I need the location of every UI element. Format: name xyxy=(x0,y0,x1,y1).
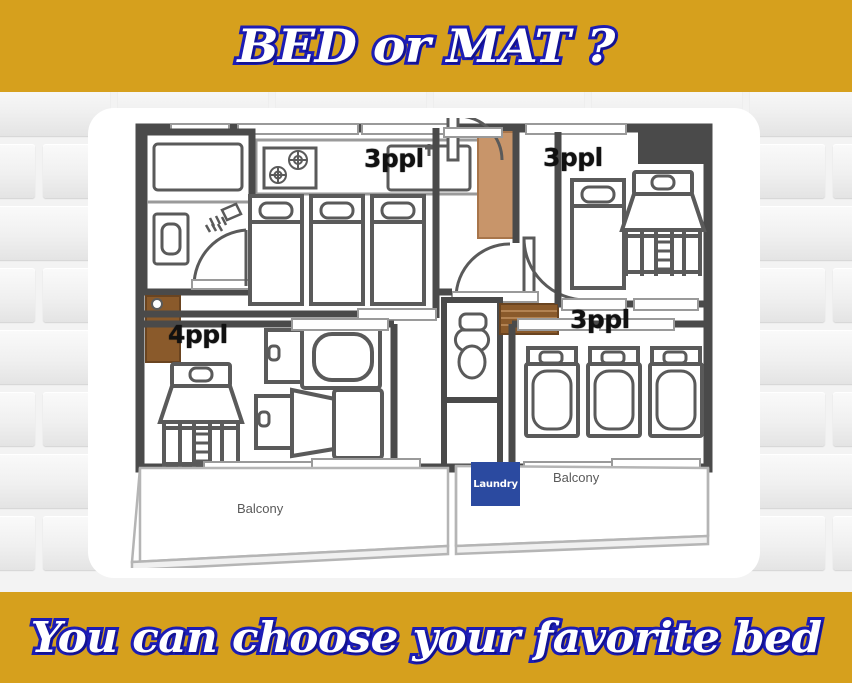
bottom-banner: You can choose your favorite bed xyxy=(0,592,852,683)
balcony-label-left: Balcony xyxy=(237,501,283,516)
capacity-label-room-top-left: 3ppl xyxy=(364,144,424,173)
top-banner: BED or MAT ? xyxy=(0,0,852,92)
poster-subtitle: You can choose your favorite bed xyxy=(31,617,822,659)
poster-title: BED or MAT ? xyxy=(237,23,614,69)
poster: 3ppl 3ppl 4ppl 3ppl Balcony Balcony Laun… xyxy=(0,0,852,683)
capacity-label-room-top-right: 3ppl xyxy=(543,143,603,172)
capacity-label-room-bottom-right: 3ppl xyxy=(570,305,630,334)
laundry-label: Laundry xyxy=(473,479,518,490)
capacity-label-room-bottom-left: 4ppl xyxy=(168,320,228,349)
laundry-badge: Laundry xyxy=(471,462,520,506)
balcony-label-right: Balcony xyxy=(553,470,599,485)
